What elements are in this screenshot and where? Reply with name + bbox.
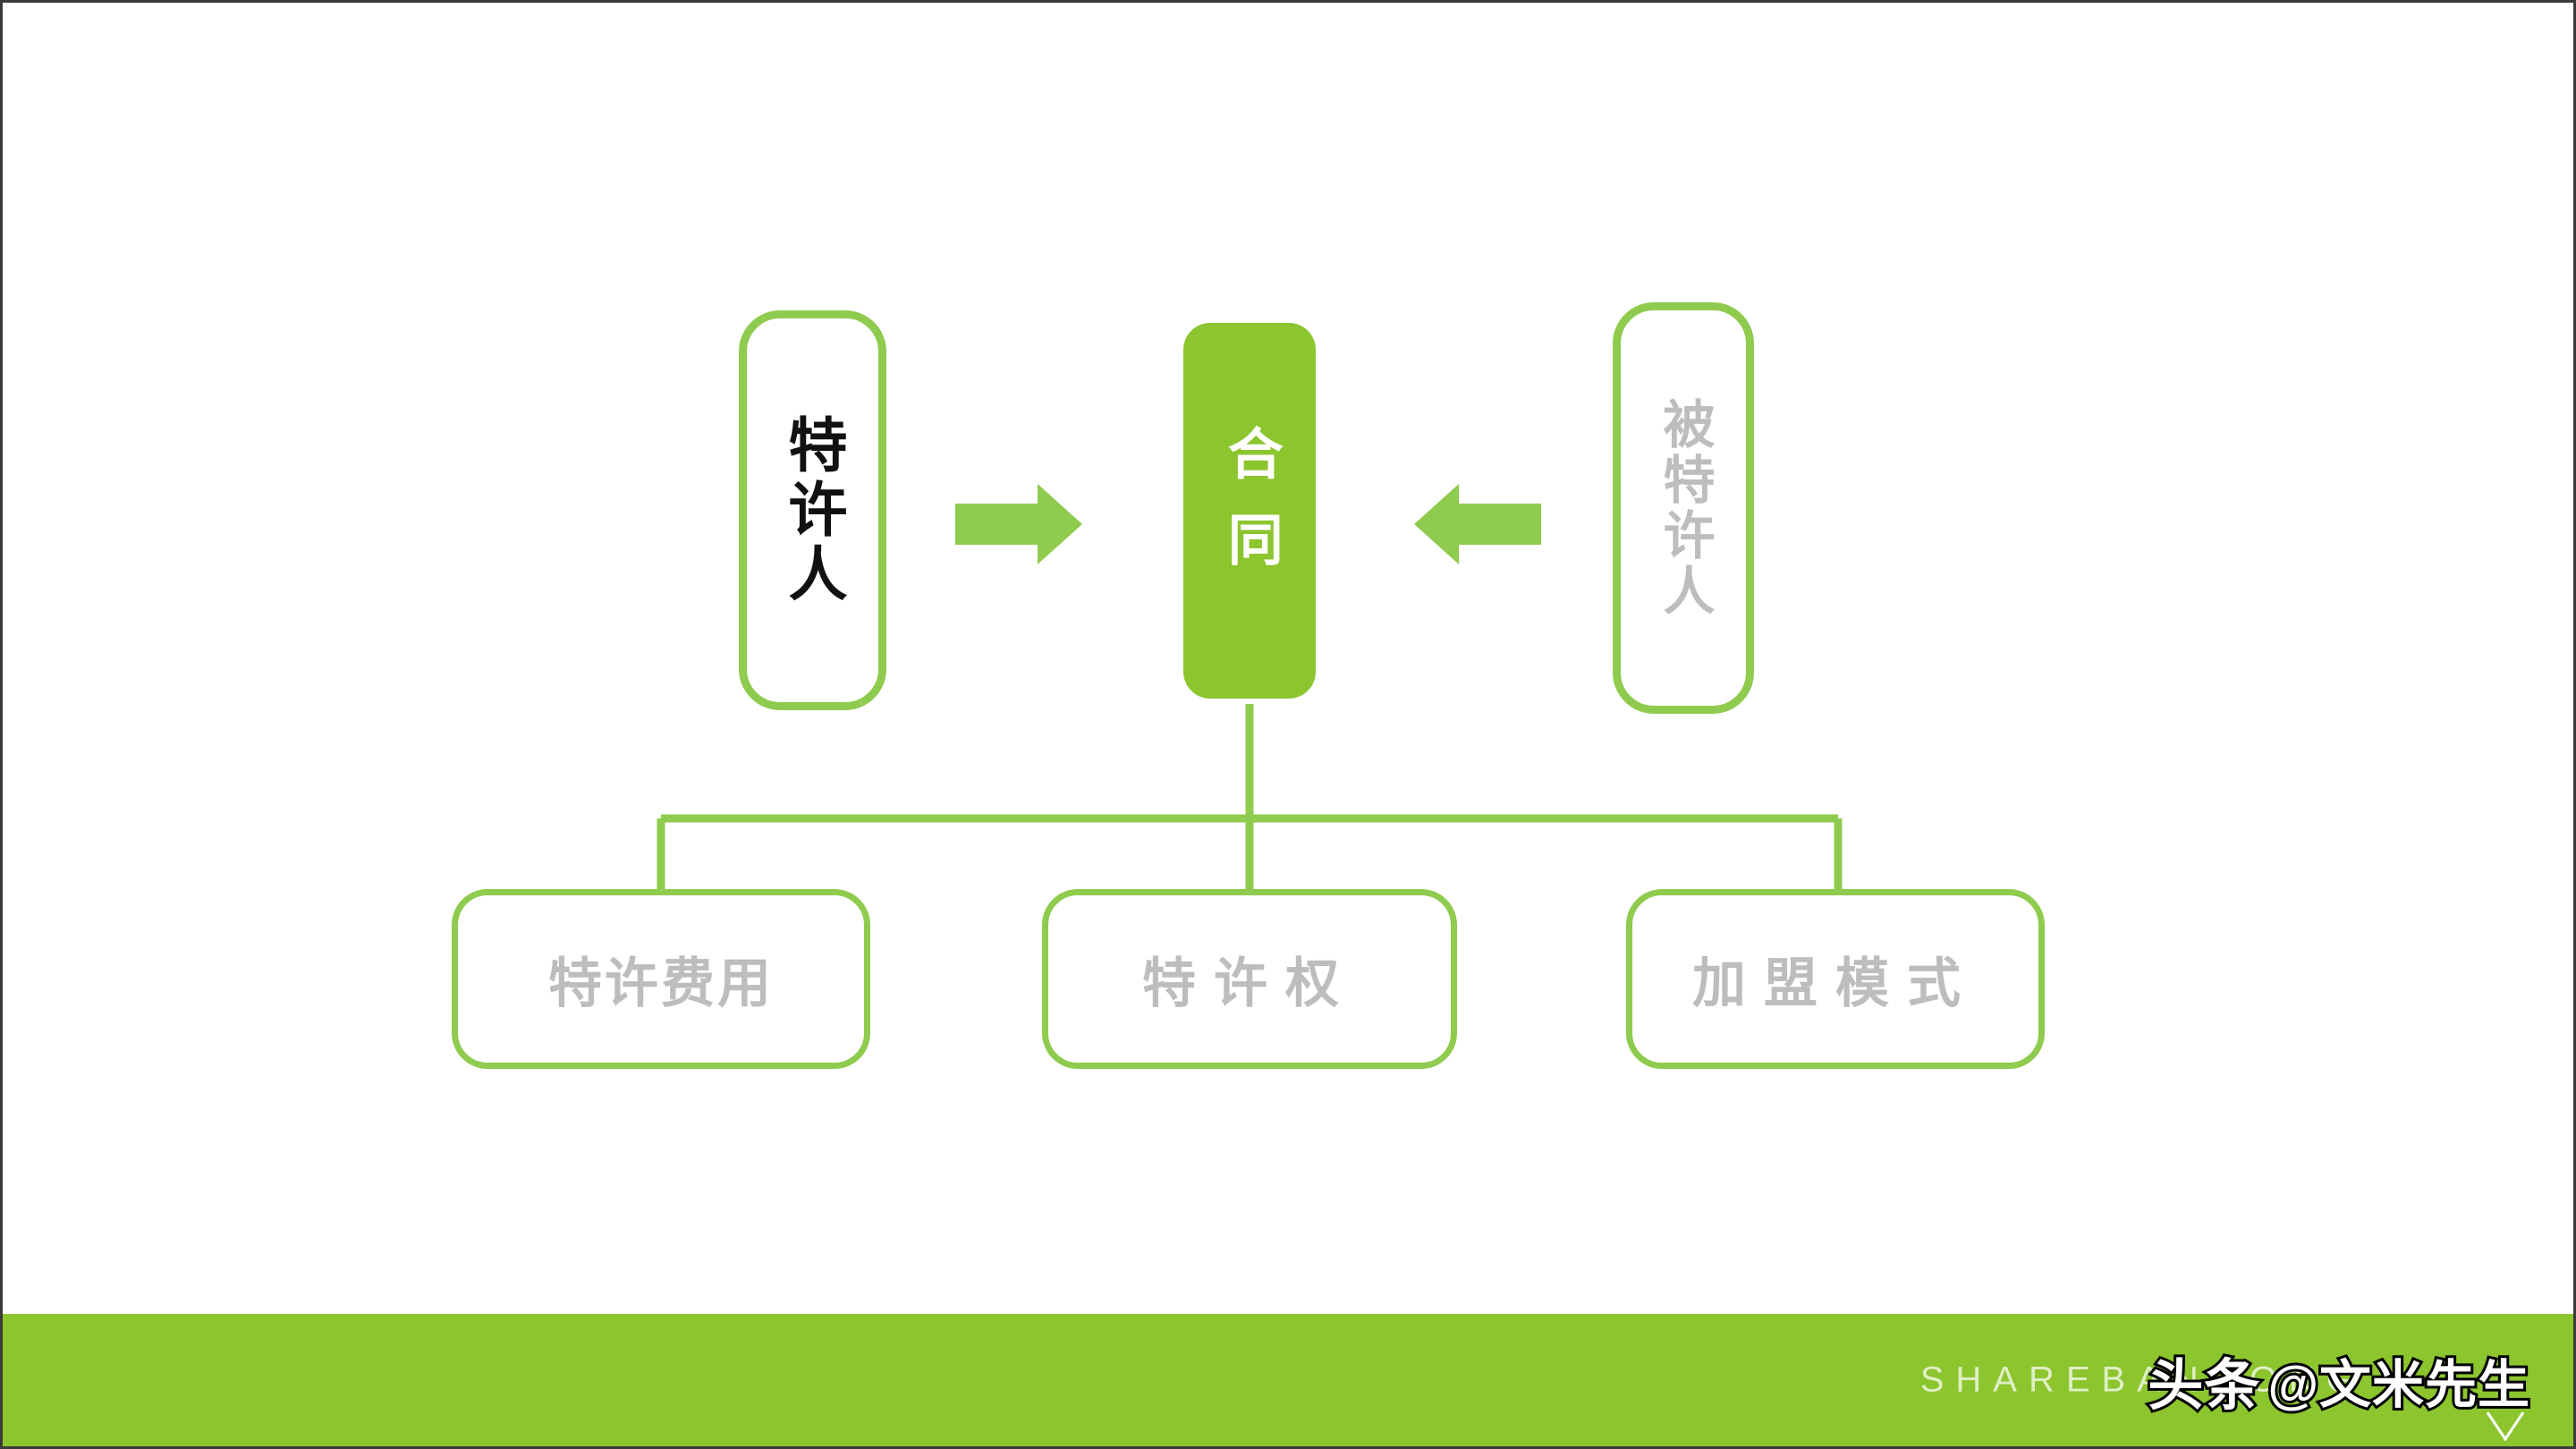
footer-bar: SHAREBANGONG 头条 @文米先生	[3, 1314, 2573, 1446]
node-contract[interactable]: 合同	[1183, 323, 1316, 699]
toutiao-logo-text: 头条	[2148, 1340, 2260, 1420]
node-franchise-fee[interactable]: 特许费用	[452, 889, 870, 1069]
arrow-left-icon	[1414, 484, 1541, 564]
slide-canvas: 特许人 合同 被特许人 特许费用 特许权 加盟模式 SHAREBANGONG	[0, 0, 2576, 1449]
chevron-down-icon	[2486, 1411, 2525, 1441]
node-franchise-model[interactable]: 加盟模式	[1626, 889, 2045, 1069]
node-franchise-model-label: 加盟模式	[1692, 940, 1979, 1018]
diagram-area: 特许人 合同 被特许人 特许费用 特许权 加盟模式	[3, 3, 2573, 1446]
footer-watermark: 头条 @文米先生	[2148, 1340, 2530, 1420]
node-franchise-right-label: 特许权	[1142, 940, 1357, 1018]
node-contract-label: 合同	[1218, 425, 1280, 597]
node-franchise-fee-label: 特许费用	[548, 940, 774, 1018]
arrow-right-icon	[955, 484, 1082, 564]
connector-lines	[3, 3, 2576, 1449]
node-franchise-right[interactable]: 特许权	[1042, 889, 1457, 1069]
node-franchisor[interactable]: 特许人	[739, 310, 886, 710]
node-franchisee-label: 被特许人	[1655, 397, 1713, 619]
node-franchisee[interactable]: 被特许人	[1613, 302, 1754, 714]
author-handle-text: @文米先生	[2267, 1343, 2530, 1418]
node-franchisor-label: 特许人	[780, 414, 846, 607]
